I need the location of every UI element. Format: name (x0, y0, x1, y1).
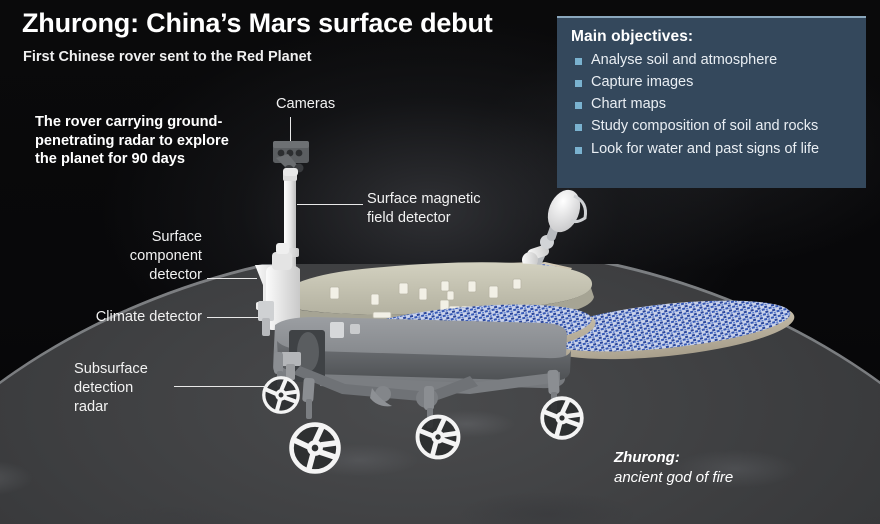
label-line: detector (149, 267, 202, 283)
square-bullet-icon (575, 80, 582, 87)
label-line: radar (74, 399, 108, 415)
objectives-list: Analyse soil and atmosphere Capture imag… (571, 51, 854, 159)
label-magnetic-detector: Surface magnetic field detector (367, 190, 517, 228)
leader-line-magnetic (297, 204, 363, 205)
list-item: Capture images (571, 73, 854, 92)
square-bullet-icon (575, 124, 582, 131)
list-item: Study composition of soil and rocks (571, 117, 854, 136)
caption-line-2: ancient god of fire (614, 468, 733, 488)
objectives-title: Main objectives: (571, 28, 854, 46)
caption-zhurong: Zhurong: ancient god of fire (614, 448, 733, 489)
square-bullet-icon (575, 58, 582, 65)
caption-line-1: Zhurong: (614, 448, 733, 468)
intro-text: The rover carrying ground-penetrating ra… (35, 113, 250, 169)
square-bullet-icon (575, 147, 582, 154)
infographic-canvas: Zhurong: China’s Mars surface debut Firs… (0, 0, 880, 524)
label-line: Subsurface (74, 361, 148, 377)
label-line: detection (74, 380, 133, 396)
page-subtitle: First Chinese rover sent to the Red Plan… (23, 49, 311, 65)
leader-line-component (207, 278, 257, 279)
objective-label: Capture images (591, 73, 693, 92)
objectives-panel: Main objectives: Analyse soil and atmosp… (557, 16, 866, 188)
label-component-detector: Surface component detector (70, 228, 202, 285)
list-item: Analyse soil and atmosphere (571, 51, 854, 70)
list-item: Chart maps (571, 95, 854, 114)
leader-line-subsurface (174, 386, 268, 387)
leader-line-climate (207, 317, 259, 318)
rover-chassis (273, 317, 571, 408)
camera-head-icon (273, 141, 309, 176)
square-bullet-icon (575, 102, 582, 109)
objective-label: Look for water and past signs of life (591, 140, 819, 159)
label-line: Surface magnetic (367, 191, 481, 207)
label-climate-detector: Climate detector (52, 308, 202, 327)
list-item: Look for water and past signs of life (571, 140, 854, 159)
label-line: Surface (152, 229, 202, 245)
objective-label: Study composition of soil and rocks (591, 117, 818, 136)
page-title: Zhurong: China’s Mars surface debut (22, 8, 493, 39)
dish-antenna-icon (522, 185, 586, 268)
label-line: field detector (367, 210, 451, 226)
climate-detector-box (258, 301, 274, 336)
label-line: component (130, 248, 202, 264)
leader-line-cameras (290, 117, 291, 141)
objective-label: Analyse soil and atmosphere (591, 51, 777, 70)
objective-label: Chart maps (591, 95, 666, 114)
label-subsurface-radar: Subsurface detection radar (74, 360, 204, 417)
label-cameras: Cameras (276, 95, 335, 114)
